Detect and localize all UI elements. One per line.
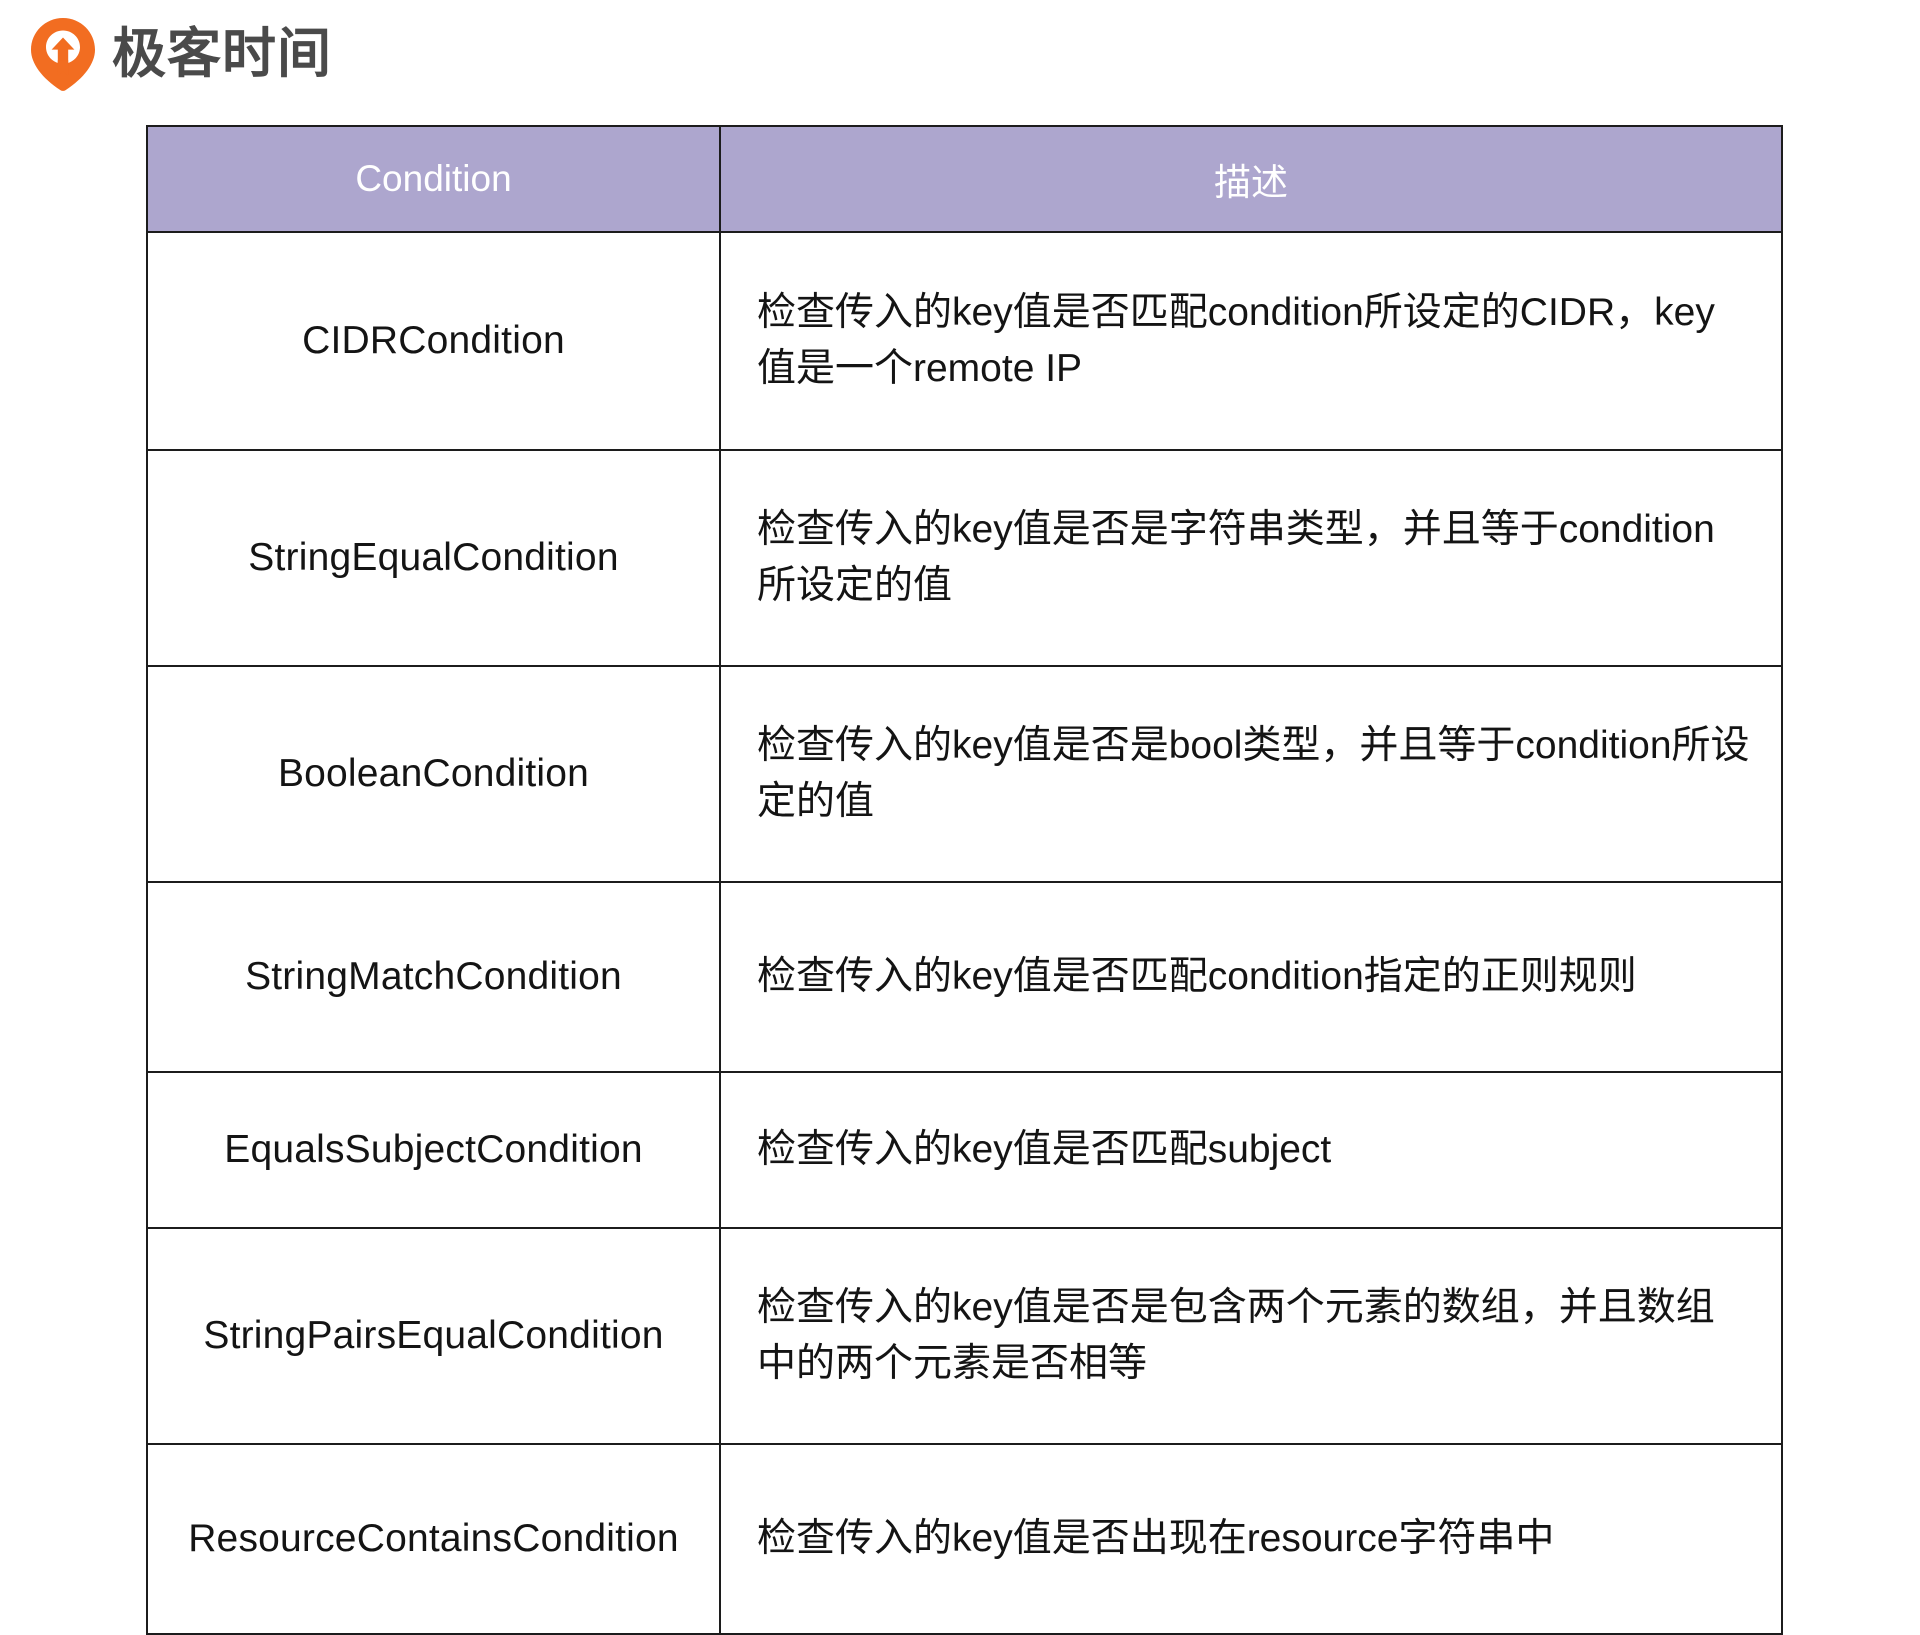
brand-header: 极客时间: [30, 14, 332, 94]
brand-name: 极客时间: [112, 27, 332, 81]
cell-condition-name: EqualsSubjectCondition: [147, 1072, 720, 1228]
table-row: EqualsSubjectCondition 检查传入的key值是否匹配subj…: [147, 1072, 1782, 1228]
table-row: CIDRCondition 检查传入的key值是否匹配condition所设定的…: [147, 232, 1782, 450]
cell-condition-name: CIDRCondition: [147, 232, 720, 450]
condition-table: Condition 描述 CIDRCondition 检查传入的key值是否匹配…: [146, 125, 1783, 1635]
cell-condition-name: ResourceContainsCondition: [147, 1444, 720, 1634]
table-row: StringMatchCondition 检查传入的key值是否匹配condit…: [147, 882, 1782, 1072]
column-header-condition: Condition: [147, 126, 720, 232]
column-header-description: 描述: [720, 126, 1782, 232]
geek-time-pin-logo-icon: [30, 16, 96, 92]
cell-condition-description: 检查传入的key值是否是字符串类型，并且等于condition所设定的值: [720, 450, 1782, 666]
cell-condition-name: StringMatchCondition: [147, 882, 720, 1072]
table-row: StringPairsEqualCondition 检查传入的key值是否是包含…: [147, 1228, 1782, 1444]
cell-condition-description: 检查传入的key值是否匹配condition所设定的CIDR，key值是一个re…: [720, 232, 1782, 450]
cell-condition-description: 检查传入的key值是否是bool类型，并且等于condition所设定的值: [720, 666, 1782, 882]
table-body: CIDRCondition 检查传入的key值是否匹配condition所设定的…: [147, 232, 1782, 1634]
cell-condition-description: 检查传入的key值是否是包含两个元素的数组，并且数组中的两个元素是否相等: [720, 1228, 1782, 1444]
cell-condition-description: 检查传入的key值是否匹配subject: [720, 1072, 1782, 1228]
cell-condition-name: StringPairsEqualCondition: [147, 1228, 720, 1444]
table-header: Condition 描述: [147, 126, 1782, 232]
cell-condition-description: 检查传入的key值是否出现在resource字符串中: [720, 1444, 1782, 1634]
table-row: ResourceContainsCondition 检查传入的key值是否出现在…: [147, 1444, 1782, 1634]
table-header-row: Condition 描述: [147, 126, 1782, 232]
cell-condition-name: BooleanCondition: [147, 666, 720, 882]
cell-condition-description: 检查传入的key值是否匹配condition指定的正则规则: [720, 882, 1782, 1072]
table-row: BooleanCondition 检查传入的key值是否是bool类型，并且等于…: [147, 666, 1782, 882]
cell-condition-name: StringEqualCondition: [147, 450, 720, 666]
condition-table-container: Condition 描述 CIDRCondition 检查传入的key值是否匹配…: [146, 125, 1783, 1635]
table-row: StringEqualCondition 检查传入的key值是否是字符串类型，并…: [147, 450, 1782, 666]
